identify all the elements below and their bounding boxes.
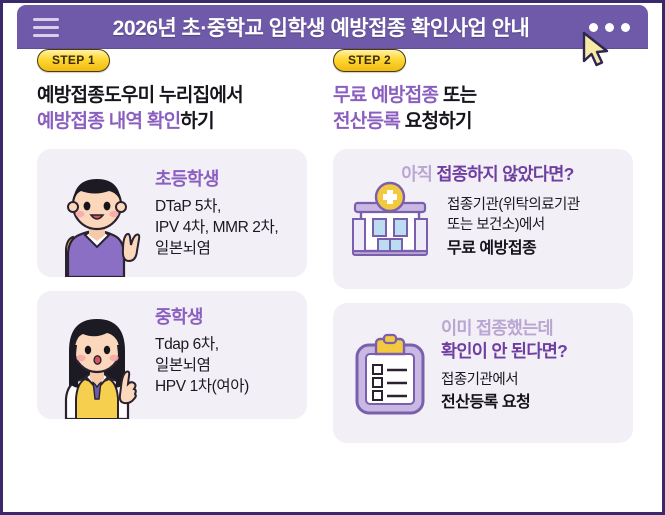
card-already-vaccinated-title-light: 이미 접종했는데 — [441, 317, 567, 340]
card-middle-school-line-2: 일본뇌염 — [155, 356, 249, 377]
card-elementary-line-3: 일본뇌염 — [155, 239, 278, 260]
card-not-vaccinated-title-dark: 접종하지 않았다면? — [436, 164, 573, 184]
title-bar: 2026년 초·중학교 입학생 예방접종 확인사업 안내 — [17, 5, 648, 49]
card-already-vaccinated[interactable]: 이미 접종했는데 확인이 안 된다면? 접종기관에서 전산등록 요청 — [333, 303, 633, 443]
card-elementary-line-2: IPV 4차, MMR 2차, — [155, 218, 278, 239]
card-not-vaccinated-body: 접종기관(위탁의료기관 또는 보건소)에서 무료 예방접종 — [447, 195, 580, 260]
card-already-vaccinated-title-dark: 확인이 안 된다면? — [441, 340, 567, 363]
step-2-column: STEP 2 무료 예방접종 또는 전산등록 요청하기 아직 접종하지 않았다면… — [333, 49, 633, 443]
step-1-column: STEP 1 예방접종도우미 누리집에서 예방접종 내역 확인하기 — [37, 49, 307, 419]
step-1-heading-line2: 예방접종 내역 확인하기 — [37, 109, 307, 135]
card-already-vaccinated-strong: 전산등록 요청 — [441, 392, 567, 414]
card-not-vaccinated[interactable]: 아직 접종하지 않았다면? — [333, 149, 633, 289]
step-2-heading-line1: 무료 예방접종 또는 — [333, 83, 633, 109]
card-not-vaccinated-line-1: 접종기관(위탁의료기관 — [447, 195, 580, 215]
card-elementary-line-1: DTaP 5차, — [155, 197, 278, 218]
step-2-heading: 무료 예방접종 또는 전산등록 요청하기 — [333, 83, 633, 135]
hamburger-line — [33, 34, 59, 37]
dot — [605, 23, 614, 32]
step-2-heading-line2: 전산등록 요청하기 — [333, 109, 633, 135]
step-1-heading-plain: 하기 — [180, 111, 214, 132]
step-2-heading-plain-1: 또는 — [443, 85, 477, 106]
dot — [589, 23, 598, 32]
step-2-heading-accent-1: 무료 예방접종 — [333, 85, 438, 106]
card-elementary-text: 초등학생 DTaP 5차, IPV 4차, MMR 2차, 일본뇌염 — [155, 165, 278, 260]
card-middle-school-line-3: HPV 1차(여아) — [155, 377, 249, 398]
clipboard-checklist-icon — [347, 333, 433, 419]
card-middle-school-title: 중학생 — [155, 303, 249, 329]
card-not-vaccinated-strong: 무료 예방접종 — [447, 238, 580, 260]
card-already-vaccinated-text: 이미 접종했는데 확인이 안 된다면? 접종기관에서 전산등록 요청 — [441, 317, 567, 414]
hamburger-menu-icon[interactable] — [33, 18, 59, 37]
dot — [621, 23, 630, 32]
content-area: STEP 1 예방접종도우미 누리집에서 예방접종 내역 확인하기 — [3, 49, 662, 512]
step-1-heading-line1: 예방접종도우미 누리집에서 — [37, 83, 307, 109]
card-elementary-body: DTaP 5차, IPV 4차, MMR 2차, 일본뇌염 — [155, 197, 278, 260]
card-middle-school-text: 중학생 Tdap 6차, 일본뇌염 HPV 1차(여아) — [155, 303, 249, 398]
card-not-vaccinated-line-2: 또는 보건소)에서 — [447, 215, 580, 235]
step-1-badge: STEP 1 — [37, 49, 110, 72]
infographic-frame: 2026년 초·중학교 입학생 예방접종 확인사업 안내 STEP 1 예방접종… — [0, 0, 665, 515]
card-already-vaccinated-line-1: 접종기관에서 — [441, 370, 567, 390]
hamburger-line — [33, 26, 59, 29]
middle-school-girl-illustration — [49, 307, 145, 419]
card-middle-school[interactable]: 중학생 Tdap 6차, 일본뇌염 HPV 1차(여아) — [37, 291, 307, 419]
elementary-boy-illustration — [49, 165, 145, 277]
step-1-heading: 예방접종도우미 누리집에서 예방접종 내역 확인하기 — [37, 83, 307, 135]
step-2-heading-accent-2: 전산등록 — [333, 111, 400, 132]
card-middle-school-body: Tdap 6차, 일본뇌염 HPV 1차(여아) — [155, 335, 249, 398]
more-options-icon[interactable] — [589, 23, 630, 32]
card-elementary-title: 초등학생 — [155, 165, 278, 191]
step-2-heading-plain-2: 요청하기 — [405, 111, 472, 132]
step-2-badge: STEP 2 — [333, 49, 406, 72]
hamburger-line — [33, 18, 59, 21]
card-middle-school-line-1: Tdap 6차, — [155, 335, 249, 356]
step-1-heading-accent: 예방접종 내역 확인 — [37, 111, 180, 132]
card-elementary[interactable]: 초등학생 DTaP 5차, IPV 4차, MMR 2차, 일본뇌염 — [37, 149, 307, 277]
page-title: 2026년 초·중학교 입학생 예방접종 확인사업 안내 — [59, 12, 589, 42]
hospital-building-icon — [347, 175, 433, 261]
